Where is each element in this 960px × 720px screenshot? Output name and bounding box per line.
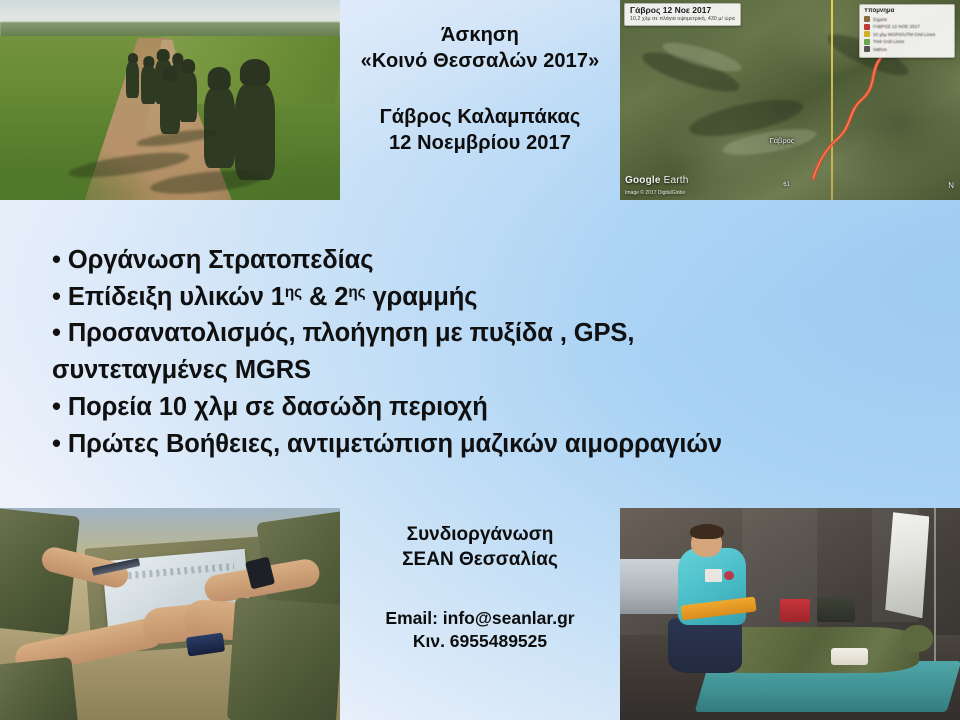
google-earth-watermark-bold: Google — [625, 175, 661, 186]
soldier-figure — [179, 72, 198, 122]
poster-canvas: Γάβρος Γάβρος 12 Νοε 2017 10,2 χλμ σε πλ… — [0, 0, 960, 720]
ordinal-suffix: ης — [348, 284, 365, 301]
bandage — [831, 648, 868, 665]
map-place-label: Γάβρος — [770, 136, 795, 145]
legend-item-label: ΓΑΒΡΟΣ 12 ΝΟΕ 2017 — [873, 24, 920, 29]
patient-figure — [722, 627, 919, 674]
map-legend-panel[interactable]: Υπόμνημα Σημεία ΓΑΒΡΟΣ 12 ΝΟΕ 2017 10 χλ… — [859, 4, 955, 58]
bullet-marker: • — [52, 319, 61, 347]
point-icon — [864, 31, 870, 37]
ordinal-suffix: ης — [285, 284, 302, 301]
list-item-label: Πρώτες Βοήθειες, αντιμετώπιση μαζικών αι… — [68, 430, 722, 458]
legend-item[interactable]: Vathos — [864, 46, 950, 52]
map-callout-title: Γάβρος 12 Νοε 2017 — [630, 6, 735, 16]
title-location: Γάβρος Καλαμπάκας — [344, 104, 616, 130]
bullet-marker: • — [52, 283, 61, 311]
legend-item[interactable]: 10 χλμ MGRS/UTM Grid Lines — [864, 31, 950, 37]
list-item-label: Προσανατολισμός, πλοήγηση με πυξίδα , GP… — [68, 319, 635, 347]
bullet-marker: • — [52, 246, 61, 274]
name-badge — [705, 569, 722, 582]
title-date: 12 Νοεμβρίου 2017 — [344, 130, 616, 156]
soldiers-marching-photo — [0, 0, 340, 200]
layer-icon — [864, 46, 870, 52]
google-earth-map-photo: Γάβρος Γάβρος 12 Νοε 2017 10,2 χλμ σε πλ… — [620, 0, 960, 200]
first-aid-bag — [780, 599, 811, 622]
legend-item-label: Trek Grid Lines — [873, 39, 904, 44]
list-item-label-mid: & 2 — [302, 283, 348, 311]
camouflage-trouser — [0, 657, 78, 720]
activities-list: • Οργάνωση Στρατοπεδίας • Επίδειξη υλικώ… — [52, 242, 908, 462]
list-item: • Προσανατολισμός, πλοήγηση με πυξίδα , … — [52, 315, 908, 352]
soldier-figure — [235, 84, 276, 180]
soldier-figure — [126, 62, 140, 98]
legend-item-label: Σημεία — [873, 17, 887, 22]
compass-north-icon: N — [948, 181, 954, 190]
legend-title: Υπόμνημα — [864, 8, 950, 14]
soldier-figure — [160, 80, 180, 134]
instructor-head — [691, 529, 722, 557]
title-line-2: «Κοινό Θεσσαλών 2017» — [344, 48, 616, 74]
legend-item-label: Vathos — [873, 47, 887, 52]
map-title-callout: Γάβρος 12 Νοε 2017 10,2 χλμ σε πλάγια υψ… — [624, 3, 741, 26]
pin-icon — [864, 16, 870, 22]
co-organizer-name: ΣΕΑΝ Θεσσαλίας — [344, 547, 616, 572]
bullet-marker: • — [52, 430, 61, 458]
contact-email[interactable]: Email: info@seanlar.gr — [344, 607, 616, 630]
first-aid-photo — [620, 508, 960, 720]
legend-item[interactable]: ΓΑΒΡΟΣ 12 ΝΟΕ 2017 — [864, 24, 950, 30]
camouflage-sleeve — [227, 598, 340, 720]
list-item: • Οργάνωση Στρατοπεδίας — [52, 242, 908, 279]
poster-title-block: Άσκηση «Κοινό Θεσσαλών 2017» Γάβρος Καλα… — [344, 22, 616, 156]
google-earth-attribution: Image © 2017 DigitalGlobe — [625, 190, 685, 196]
title-line-1: Άσκηση — [344, 22, 616, 48]
google-earth-watermark: Google Earth — [625, 175, 689, 186]
bullet-marker: • — [52, 393, 61, 421]
list-item-label: Πορεία 10 χλμ σε δασώδη περιοχή — [68, 393, 488, 421]
google-earth-watermark-light: Earth — [661, 175, 689, 186]
list-item-label-end: γραμμής — [365, 283, 477, 311]
footer-contact-block: Συνδιοργάνωση ΣΕΑΝ Θεσσαλίας Email: info… — [344, 522, 616, 654]
patient-head — [902, 625, 933, 653]
list-item: • Πρώτες Βοήθειες, αντιμετώπιση μαζικών … — [52, 426, 908, 463]
legend-item[interactable]: Trek Grid Lines — [864, 39, 950, 45]
soldier-figure — [204, 88, 235, 168]
track-icon — [864, 39, 870, 45]
list-item-label: Οργάνωση Στρατοπεδίας — [68, 246, 374, 274]
list-item-label: Επίδειξη υλικών 1 — [68, 283, 285, 311]
list-item: • Επίδειξη υλικών 1ης & 2ης γραμμής — [52, 279, 908, 316]
legend-item[interactable]: Σημεία — [864, 16, 950, 22]
equipment-bag — [817, 597, 854, 622]
footer-spacer — [344, 573, 616, 607]
map-reading-photo — [0, 508, 340, 720]
co-organizer-label: Συνδιοργάνωση — [344, 522, 616, 547]
contact-phone[interactable]: Κιν. 6955489525 — [344, 630, 616, 653]
list-item-continuation: συντεταγμένες MGRS — [52, 352, 908, 389]
map-scale-label: 61 — [783, 182, 790, 188]
legend-item-label: 10 χλμ MGRS/UTM Grid Lines — [873, 32, 935, 37]
instructor-legs — [668, 618, 743, 673]
list-item: • Πορεία 10 χλμ σε δασώδη περιοχή — [52, 389, 908, 426]
title-spacer — [344, 74, 616, 104]
map-callout-subtitle: 10,2 χλμ σε πλάγια υψομετρική, 430 μ/ ώρ… — [630, 17, 735, 23]
route-icon — [864, 24, 870, 30]
